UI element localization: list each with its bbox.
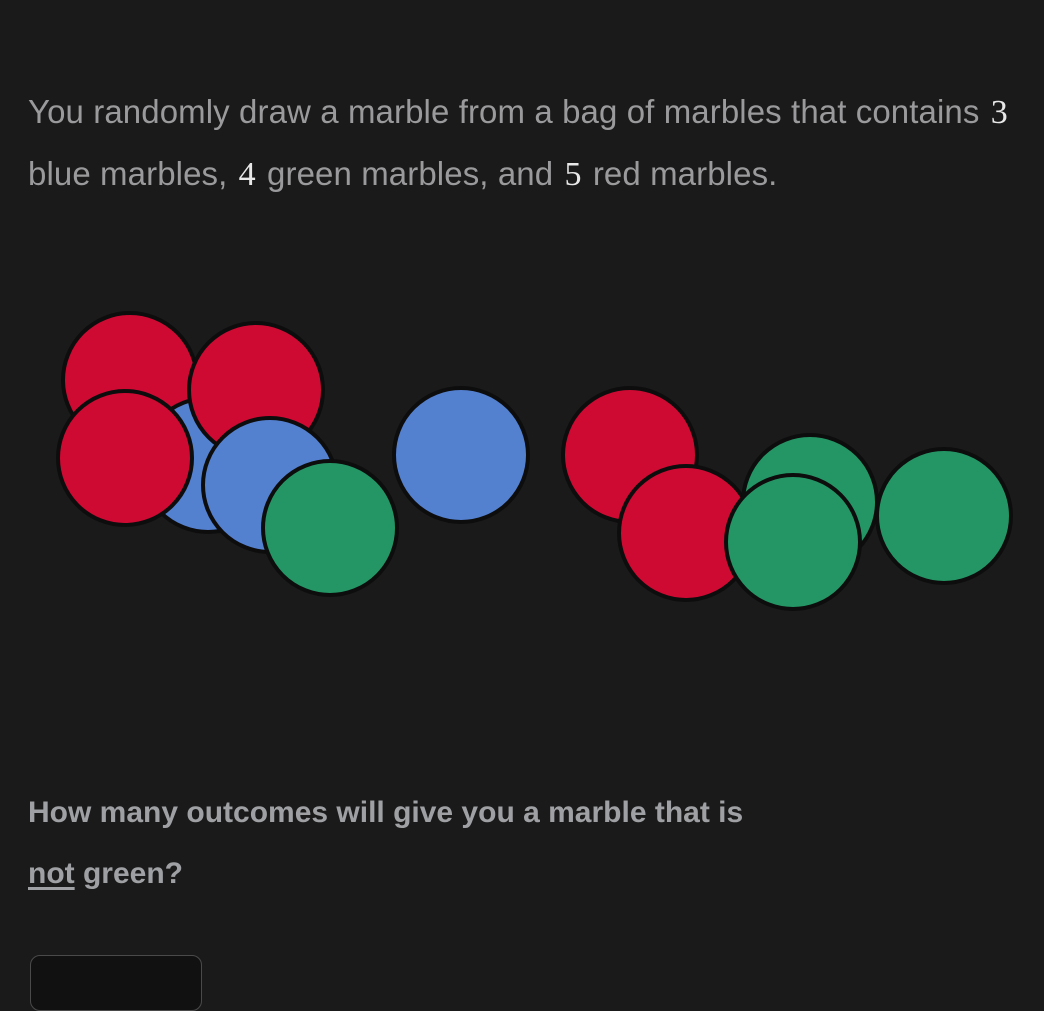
problem-statement-part2: blue marbles, — [28, 155, 237, 192]
question-text: How many outcomes will give you a marble… — [28, 782, 1013, 904]
problem-statement-part3: green marbles, and — [258, 155, 563, 192]
answer-input-box[interactable] — [30, 955, 202, 1011]
question-emphasis-not: not — [28, 857, 75, 890]
marble-illustration-svg — [0, 280, 1044, 640]
blue-marble-count: 3 — [989, 94, 1010, 131]
green-marble-count: 4 — [237, 156, 258, 193]
problem-statement: You randomly draw a marble from a bag of… — [28, 81, 1013, 205]
exercise-page: You randomly draw a marble from a bag of… — [0, 0, 1044, 984]
marble-green — [263, 461, 397, 595]
marble-red — [58, 391, 192, 525]
answer-input[interactable] — [31, 956, 201, 1010]
marble-green — [877, 449, 1011, 583]
marble-green — [726, 475, 860, 609]
marble-blue — [394, 388, 528, 522]
problem-statement-part1: You randomly draw a marble from a bag of… — [28, 93, 989, 130]
red-marble-count: 5 — [562, 156, 583, 193]
marble-illustration — [0, 280, 1044, 640]
question-line-2-rest: green? — [75, 857, 183, 890]
problem-statement-part4: red marbles. — [584, 155, 778, 192]
question-line-1: How many outcomes will give you a marble… — [28, 796, 743, 829]
